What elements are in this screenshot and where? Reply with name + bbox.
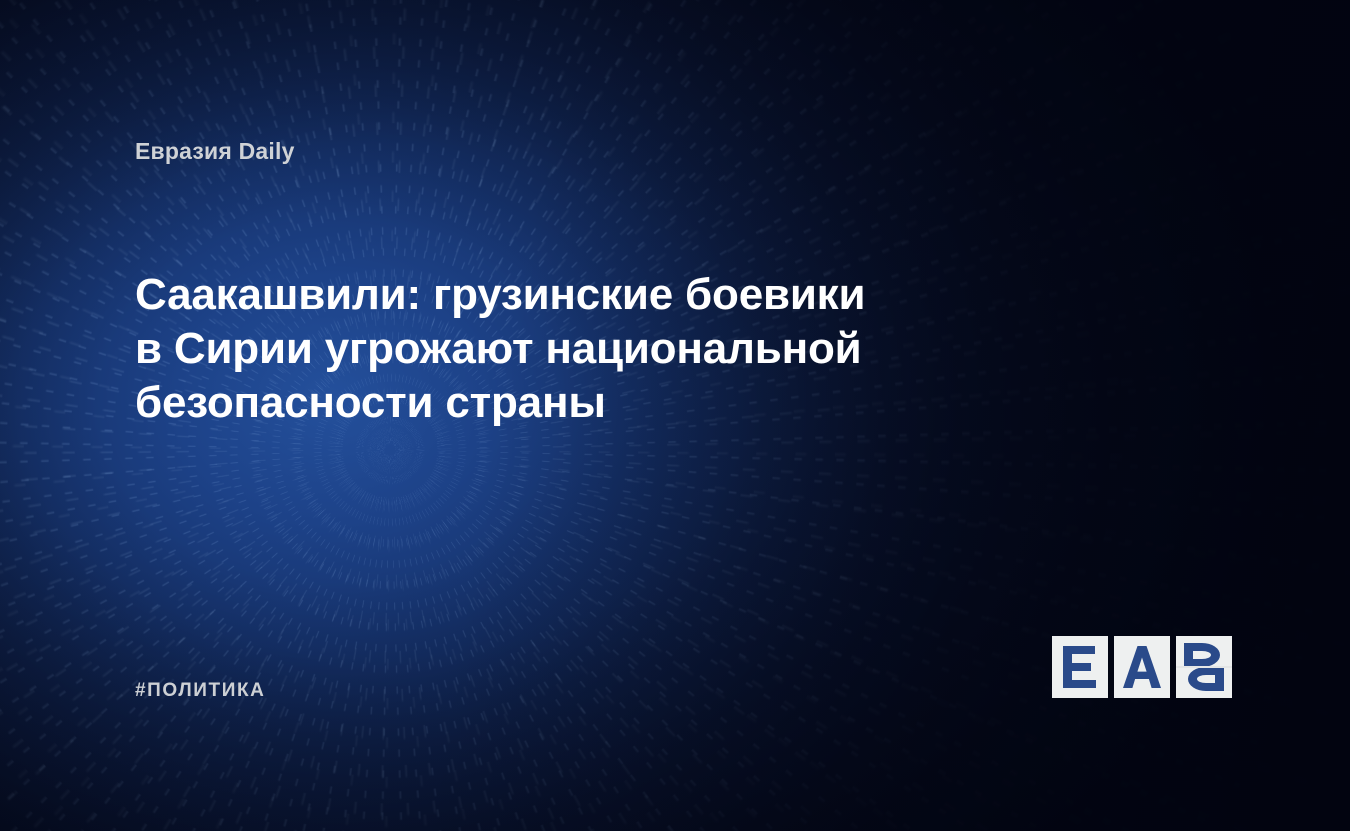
letter-d-split-icon bbox=[1184, 643, 1224, 691]
headline-line-3: безопасности страны bbox=[135, 376, 1085, 430]
category-hashtag[interactable]: #ПОЛИТИКА bbox=[135, 680, 266, 702]
publisher-name: Евразия Daily bbox=[135, 138, 295, 165]
letter-a-icon bbox=[1123, 646, 1161, 688]
ead-logo-tile-d bbox=[1176, 636, 1232, 698]
ead-logo-tile-e bbox=[1052, 636, 1108, 698]
ead-logo-tile-a bbox=[1114, 636, 1170, 698]
page-title: Саакашвили: грузинские боевики в Сирии у… bbox=[135, 268, 1085, 430]
headline-line-1: Саакашвили: грузинские боевики bbox=[135, 268, 1085, 322]
news-card: Евразия Daily Саакашвили: грузинские бое… bbox=[0, 0, 1350, 831]
letter-e-icon bbox=[1063, 646, 1097, 688]
ead-logo[interactable] bbox=[1052, 636, 1232, 698]
headline-line-2: в Сирии угрожают национальной bbox=[135, 322, 1085, 376]
